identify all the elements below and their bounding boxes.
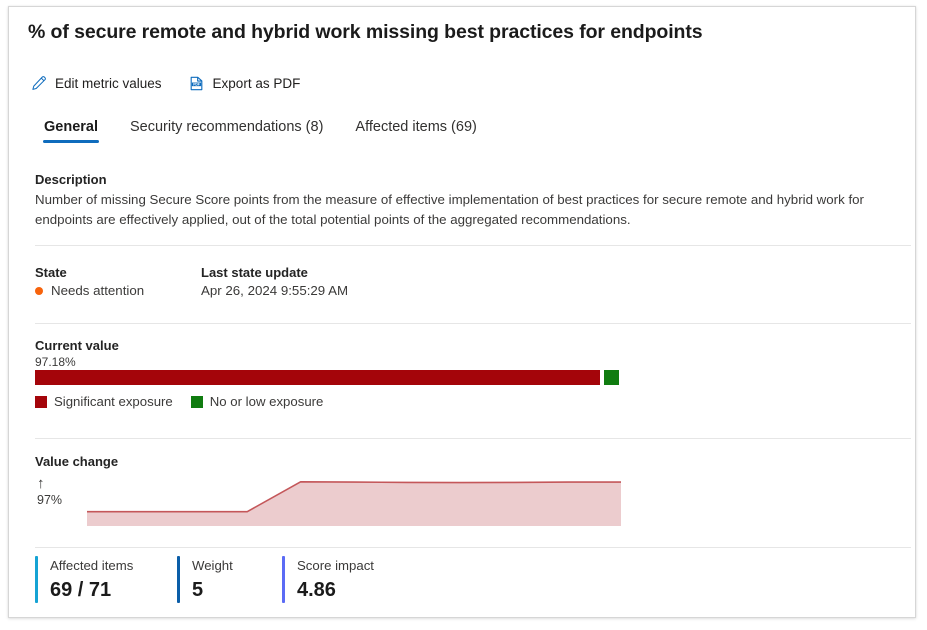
kpi-value-score-impact: 4.86 xyxy=(297,577,374,603)
metric-details-card: % of secure remote and hybrid work missi… xyxy=(8,6,916,618)
kpi-label-weight: Weight xyxy=(192,556,233,575)
tab-general[interactable]: General xyxy=(28,115,114,147)
kpi-score-impact: Score impact 4.86 xyxy=(282,556,442,603)
kpi-value-weight: 5 xyxy=(192,577,233,603)
bar-segment-no-or-low-exposure xyxy=(604,370,619,385)
kpi-affected-items: Affected items 69 / 71 xyxy=(35,556,177,603)
edit-metric-values-button[interactable]: Edit metric values xyxy=(28,73,164,94)
last-state-update-heading: Last state update xyxy=(201,265,308,280)
kpi-label-affected-items: Affected items xyxy=(50,556,133,575)
export-as-pdf-button[interactable]: PDF Export as PDF xyxy=(186,73,303,94)
export-as-pdf-label: Export as PDF xyxy=(213,76,301,91)
state-dot-icon xyxy=(35,287,43,295)
kpi-weight: Weight 5 xyxy=(177,556,282,603)
legend-item-no-or-low-exposure: No or low exposure xyxy=(191,394,324,409)
kpi-row: Affected items 69 / 71 Weight 5 Score im… xyxy=(35,556,442,603)
state-heading: State xyxy=(35,265,67,280)
legend-label-no-or-low-exposure: No or low exposure xyxy=(210,394,324,409)
kpi-label-score-impact: Score impact xyxy=(297,556,374,575)
svg-text:PDF: PDF xyxy=(193,83,200,87)
kpi-accent-bar-affected-items xyxy=(35,556,38,603)
current-value-heading: Current value xyxy=(35,338,119,353)
divider-4 xyxy=(35,547,911,548)
command-bar: Edit metric values PDF Export as PDF xyxy=(28,73,302,94)
last-state-update-value: Apr 26, 2024 9:55:29 AM xyxy=(201,283,348,298)
exposure-legend: Significant exposure No or low exposure xyxy=(35,394,323,409)
divider-3 xyxy=(35,438,911,439)
tab-security-recommendations[interactable]: Security recommendations (8) xyxy=(114,115,339,147)
legend-label-significant-exposure: Significant exposure xyxy=(54,394,173,409)
value-change-sparkline-chart xyxy=(87,469,621,531)
legend-swatch-no-or-low-exposure xyxy=(191,396,203,408)
kpi-value-affected-items: 69 / 71 xyxy=(50,577,133,603)
pencil-icon xyxy=(30,75,47,92)
legend-item-significant-exposure: Significant exposure xyxy=(35,394,173,409)
value-change-delta: ↑ 97% xyxy=(37,475,83,508)
legend-swatch-significant-exposure xyxy=(35,396,47,408)
sparkline-area xyxy=(87,482,621,526)
edit-metric-values-label: Edit metric values xyxy=(55,76,162,91)
value-change-heading: Value change xyxy=(35,454,118,469)
state-badge: Needs attention xyxy=(35,283,144,298)
description-heading: Description xyxy=(35,172,107,187)
state-value-label: Needs attention xyxy=(51,283,144,298)
sparkline-svg xyxy=(87,469,621,531)
tab-affected-items[interactable]: Affected items (69) xyxy=(339,115,492,147)
current-value-number: 97.18% xyxy=(35,355,76,369)
divider-1 xyxy=(35,245,911,246)
divider-2 xyxy=(35,323,911,324)
kpi-accent-bar-weight xyxy=(177,556,180,603)
arrow-up-icon: ↑ xyxy=(37,475,83,492)
description-text: Number of missing Secure Score points fr… xyxy=(35,190,911,230)
kpi-accent-bar-score-impact xyxy=(282,556,285,603)
page-title: % of secure remote and hybrid work missi… xyxy=(28,21,702,44)
bar-segment-significant-exposure xyxy=(35,370,600,385)
tab-list: General Security recommendations (8) Aff… xyxy=(28,115,493,147)
value-change-percent: 97% xyxy=(37,492,83,508)
exposure-stacked-bar xyxy=(35,370,619,385)
pdf-icon: PDF xyxy=(188,75,205,92)
